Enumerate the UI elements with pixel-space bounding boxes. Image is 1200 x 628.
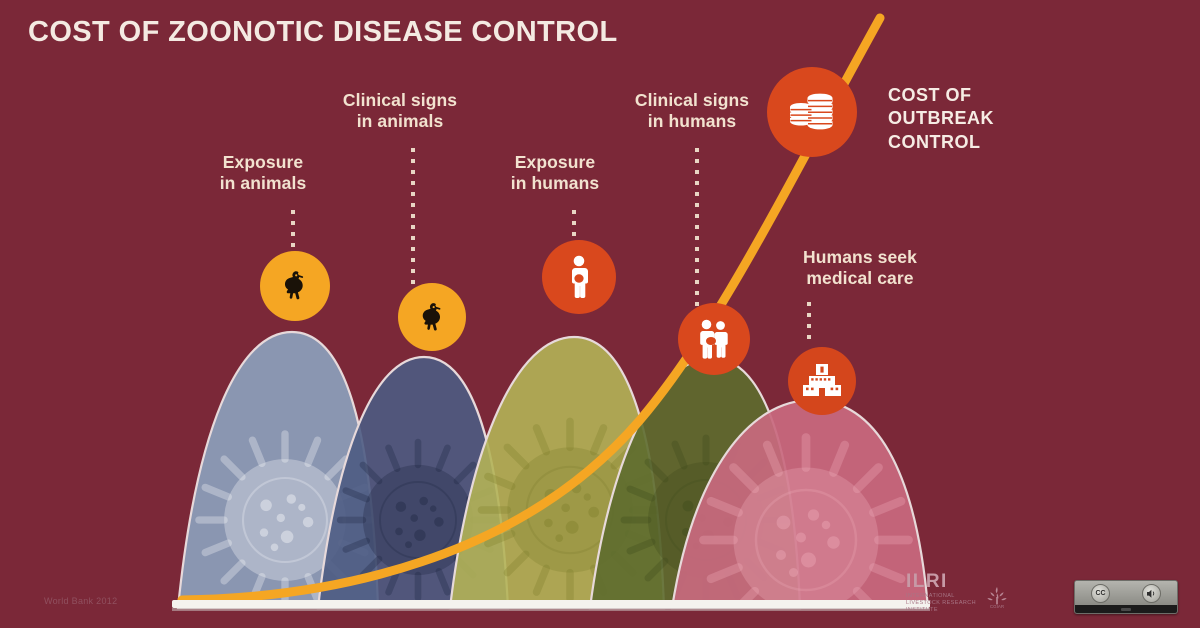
badge-clinical-signs-in-animals[interactable] (398, 283, 466, 351)
cgiar-text: CGIAR (990, 604, 1005, 609)
connector-clinical-signs-in-animals (411, 148, 415, 285)
cgiar-logo-icon: CGIAR (984, 585, 1010, 609)
baseline-axis (172, 600, 930, 608)
hospital-icon (801, 363, 843, 399)
label-clinical-signs-in-animals: Clinical signs in animals (305, 90, 495, 131)
badge-cost-of-outbreak-control[interactable] (767, 67, 857, 157)
infographic-canvas: COST OF ZOONOTIC DISEASE CONTROL Exposur… (0, 0, 1200, 628)
credit-text: World Bank 2012 (44, 596, 117, 606)
ilri-subtitle: INTERNATIONAL LIVESTOCK RESEARCH INSTITU… (906, 593, 976, 614)
badge-exposure-in-humans[interactable] (542, 240, 616, 314)
baseline-shadow (172, 608, 930, 611)
two-people-icon (692, 316, 736, 362)
person-icon (559, 254, 599, 300)
label-cost-of-outbreak-control: COST OF OUTBREAK CONTROL (888, 84, 1068, 154)
badge-clinical-signs-in-humans[interactable] (678, 303, 750, 375)
connector-exposure-in-animals (291, 210, 295, 252)
ilri-wordmark: ILRI (906, 572, 976, 591)
coins-icon (786, 88, 838, 136)
label-clinical-signs-in-humans: Clinical signs in humans (592, 90, 792, 131)
connector-exposure-in-humans (572, 210, 576, 244)
badge-humans-seek-medical-care[interactable] (788, 347, 856, 415)
connector-clinical-signs-in-humans (695, 148, 699, 308)
page-title: COST OF ZOONOTIC DISEASE CONTROL (28, 16, 618, 49)
player-seek-knob[interactable] (1121, 608, 1131, 611)
volume-icon (1146, 589, 1157, 598)
connector-humans-seek-medical-care (807, 302, 811, 344)
label-exposure-in-animals: Exposure in animals (178, 152, 348, 193)
ilri-branding: ILRI INTERNATIONAL LIVESTOCK RESEARCH IN… (906, 572, 1010, 614)
video-player-controls[interactable]: CC (1074, 580, 1178, 614)
player-seek-bar[interactable] (1075, 605, 1177, 614)
chicken-icon (413, 298, 452, 337)
closed-captions-button[interactable]: CC (1091, 584, 1110, 603)
label-humans-seek-medical-care: Humans seek medical care (760, 247, 960, 288)
chicken-icon (275, 266, 315, 306)
badge-exposure-in-animals[interactable] (260, 251, 330, 321)
label-exposure-in-humans: Exposure in humans (460, 152, 650, 193)
volume-button[interactable] (1142, 584, 1161, 603)
